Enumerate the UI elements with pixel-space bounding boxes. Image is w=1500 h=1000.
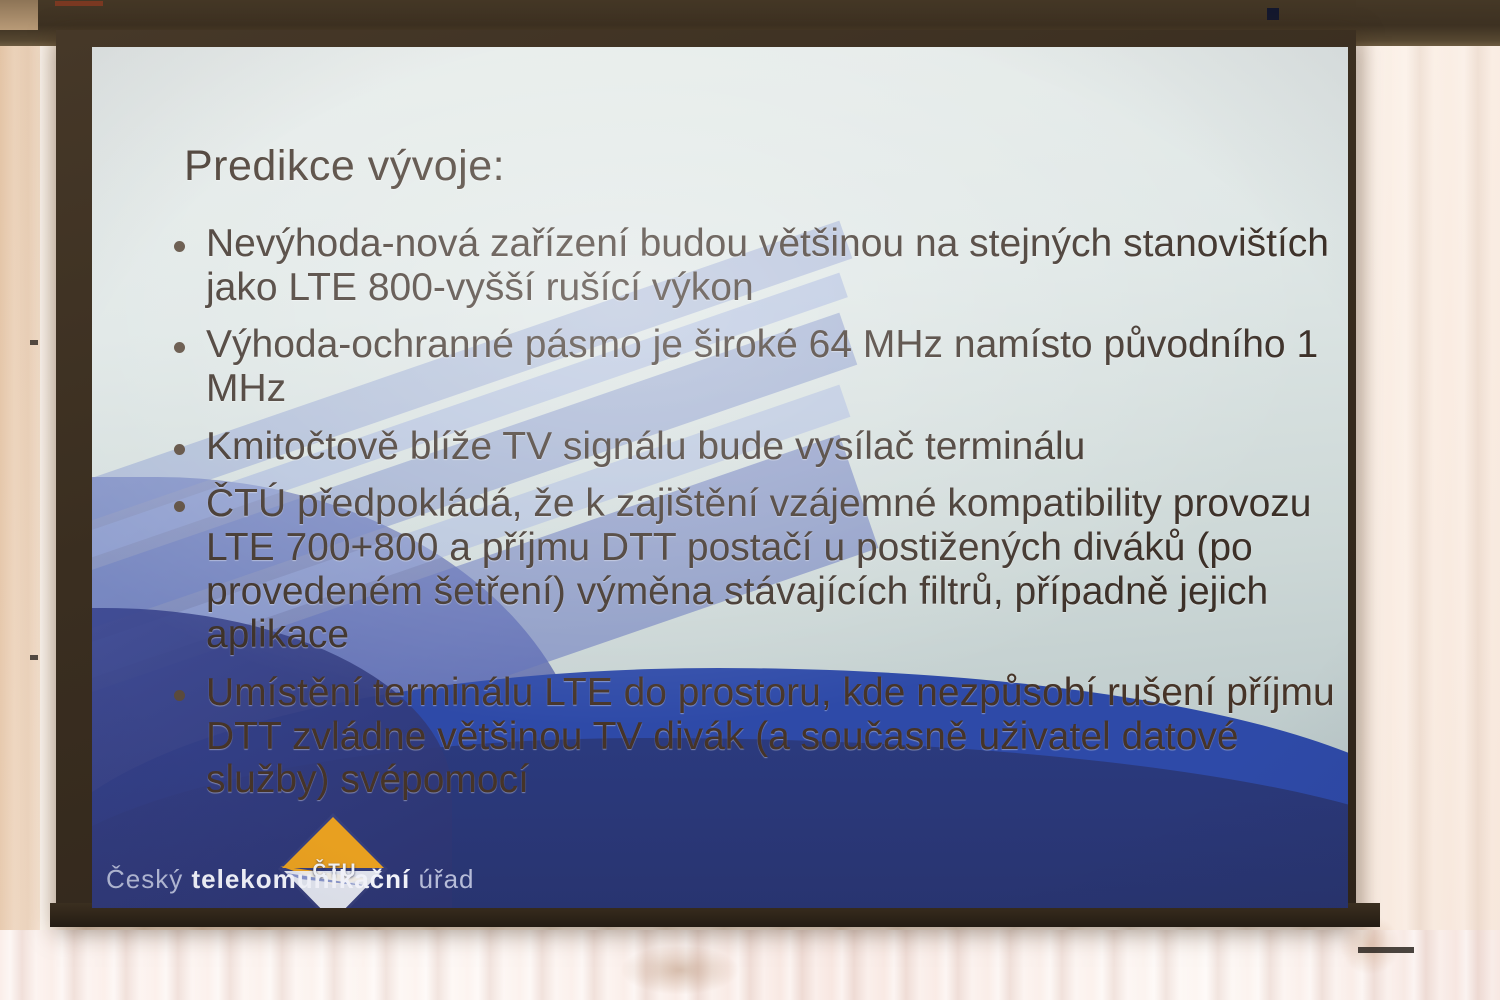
blind-clip-upper	[30, 340, 38, 345]
bullet-item-4: ČTÚ předpokládá, že k zajištění vzájemné…	[164, 482, 1344, 657]
wall-below-screen	[0, 930, 1500, 1000]
housing-left-cap	[0, 0, 38, 30]
bullet-item-2: Výhoda-ochranné pásmo je široké 64 MHz n…	[164, 323, 1344, 410]
photo-of-projected-slide: ČTU Český telekomunikační úřad Predikce …	[0, 0, 1500, 1000]
slide-bullet-list: Nevýhoda-nová zařízení budou většinou na…	[164, 222, 1344, 816]
housing-sensor-dot	[1267, 8, 1279, 20]
wall-smudge	[620, 945, 740, 995]
slide-content: Predikce vývoje: Nevýhoda-nová zařízení …	[92, 47, 1348, 908]
footer-word-3: úřad	[418, 864, 474, 894]
bullet-item-1: Nevýhoda-nová zařízení budou většinou na…	[164, 222, 1344, 309]
footer-word-1: Český	[106, 864, 183, 894]
footer-word-2: telekomunikační	[191, 864, 410, 894]
presentation-slide: ČTU Český telekomunikační úřad Predikce …	[92, 47, 1348, 908]
bullet-item-5: Umístění terminálu LTE do prostoru, kde …	[164, 671, 1344, 802]
housing-label-mark	[55, 1, 103, 6]
bullet-item-3: Kmitočtově blíže TV signálu bude vysílač…	[164, 425, 1344, 469]
slide-footer: Český telekomunikační úřad	[106, 864, 475, 895]
blind-clip-lower	[30, 655, 38, 660]
slide-title: Predikce vývoje:	[184, 142, 505, 191]
wall-mark-right	[1358, 947, 1414, 953]
